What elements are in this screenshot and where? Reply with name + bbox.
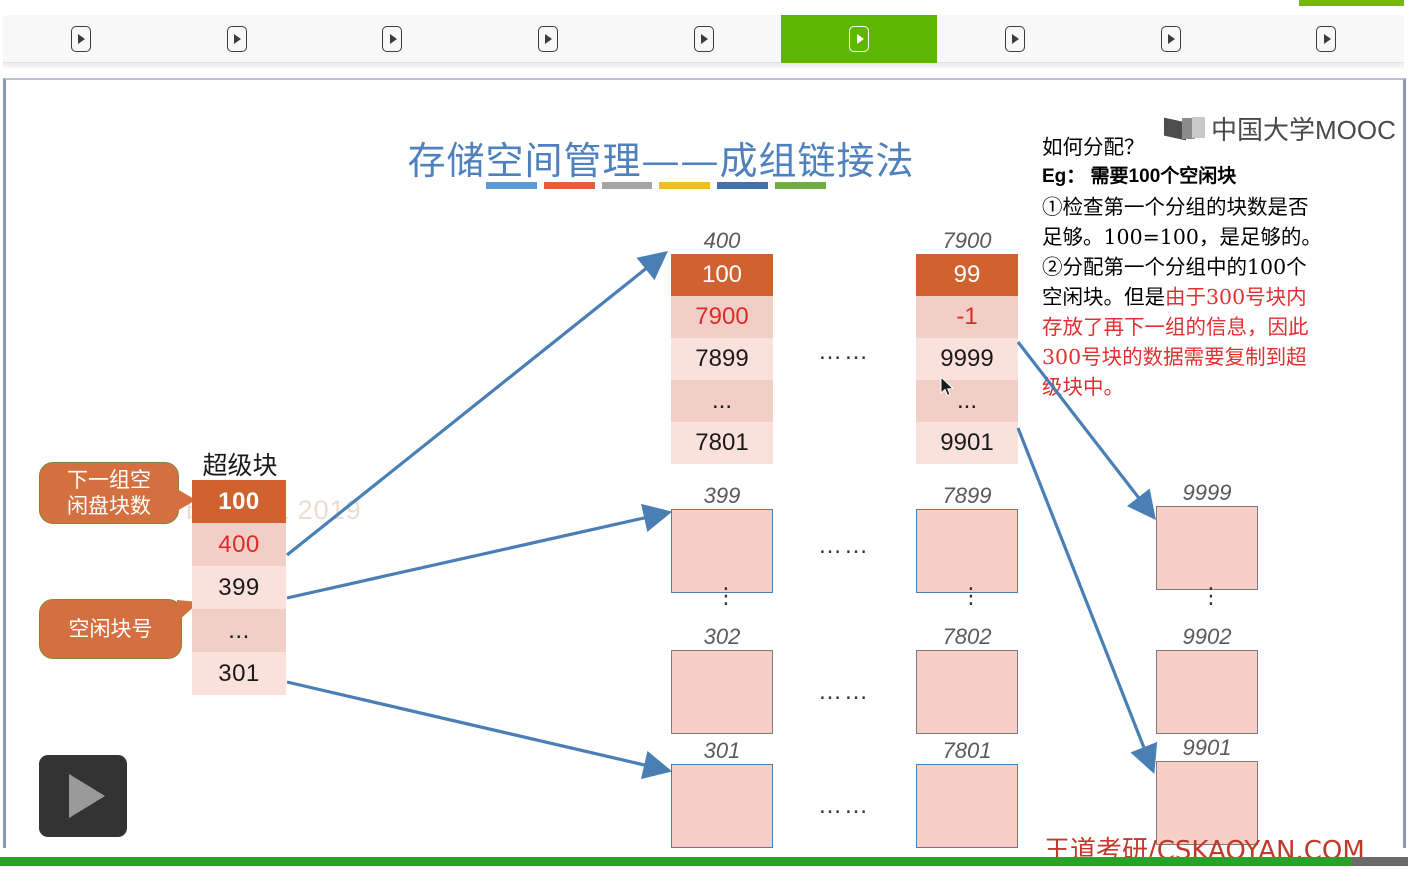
title-bar-5 bbox=[717, 182, 768, 189]
explanation-line-6-plain: 空闲块。但是 bbox=[1042, 285, 1165, 309]
video-play-icon bbox=[382, 26, 402, 52]
arrow-superblock-301-to-group301 bbox=[287, 682, 666, 770]
video-progress-fill bbox=[0, 857, 1352, 866]
video-play-icon bbox=[849, 26, 869, 52]
ellipsis-vertical-col1: ⋮ bbox=[715, 593, 735, 599]
ellipsis-horizontal-row4: …… bbox=[818, 792, 870, 820]
group-caption: 7802 bbox=[916, 624, 1018, 650]
group-caption: 400 bbox=[671, 228, 773, 254]
group-cell-count: 99 bbox=[916, 254, 1018, 296]
superblock-cell-block-301: 301 bbox=[192, 652, 286, 695]
group-caption: 7900 bbox=[916, 228, 1018, 254]
ellipsis-vertical-col3: ⋮ bbox=[1200, 593, 1220, 599]
group-caption: 9901 bbox=[1156, 735, 1258, 761]
superblock-cell-count: 100 bbox=[192, 480, 286, 523]
video-play-icon bbox=[694, 26, 714, 52]
tab-lesson-5[interactable] bbox=[626, 15, 782, 63]
group-block-9999: 9999 bbox=[1156, 480, 1258, 590]
tab-lesson-6-active[interactable] bbox=[781, 15, 937, 63]
play-icon bbox=[69, 774, 105, 818]
title-bar-3 bbox=[602, 182, 653, 189]
page-title: 存储空间管理——成组链接法 bbox=[381, 130, 941, 185]
data-block-box bbox=[671, 764, 773, 848]
video-player-page: 存储空间管理——成组链接法 中国大学MOOC 如何分配？ Eg： 需要100个空… bbox=[0, 0, 1408, 870]
data-block-box bbox=[916, 509, 1018, 593]
arrow-superblock-399-to-group399 bbox=[287, 513, 666, 598]
group-block-7802: 7802 bbox=[916, 624, 1018, 734]
group-cell-next-group: -1 bbox=[916, 296, 1018, 338]
title-underline-bars bbox=[486, 182, 826, 189]
group-cell-count: 100 bbox=[671, 254, 773, 296]
explanation-line-8: 300号块的数据需要复制到超 bbox=[1042, 342, 1408, 372]
video-play-icon bbox=[227, 26, 247, 52]
tab-lesson-7[interactable] bbox=[937, 15, 1093, 63]
arrow-superblock-400-to-group400 bbox=[287, 255, 663, 555]
callout-free-block-no-label: 空闲块号 bbox=[69, 616, 153, 642]
explanation-line-3: ①检查第一个分组的块数是否 bbox=[1042, 192, 1408, 222]
tab-bar-shadow bbox=[3, 63, 1404, 68]
superblock-cell-block-399: 399 bbox=[192, 566, 286, 609]
explanation-line-4: 足够。100=100，是足够的。 bbox=[1042, 222, 1408, 252]
group-block-7899: 7899 bbox=[916, 483, 1018, 593]
video-play-icon bbox=[1316, 26, 1336, 52]
group-cell-7899: 7899 bbox=[671, 338, 773, 380]
group-block-400: 400 100 7900 7899 ... 7801 bbox=[671, 228, 773, 464]
video-play-icon bbox=[1161, 26, 1181, 52]
title-bar-4 bbox=[659, 182, 710, 189]
tab-lesson-1[interactable] bbox=[3, 15, 159, 63]
superblock-label: 超级块 bbox=[192, 446, 288, 482]
superblock-cell-next-group: 400 bbox=[192, 523, 286, 566]
group-block-302: 302 bbox=[671, 624, 773, 734]
group-cell-9999: 9999 bbox=[916, 338, 1018, 380]
group-block-301: 301 bbox=[671, 738, 773, 848]
explanation-line-5: ②分配第一个分组中的100个 bbox=[1042, 252, 1408, 282]
ellipsis-horizontal-row2: …… bbox=[818, 532, 870, 560]
callout-next-group-count-label: 下一组空闲盘块数 bbox=[67, 467, 151, 520]
explanation-line-7: 存放了再下一组的信息，因此 bbox=[1042, 312, 1408, 342]
lesson-tab-bar[interactable] bbox=[3, 15, 1404, 63]
group-cell-next-group: 7900 bbox=[671, 296, 773, 338]
data-block-box bbox=[671, 509, 773, 593]
group-cell-ellipsis: ... bbox=[916, 380, 1018, 422]
explanation-line-2: Eg： 需要100个空闲块 bbox=[1042, 162, 1408, 192]
tab-lesson-8[interactable] bbox=[1093, 15, 1249, 63]
group-block-7801: 7801 bbox=[916, 738, 1018, 848]
group-caption: 9902 bbox=[1156, 624, 1258, 650]
ellipsis-horizontal-row1: …… bbox=[818, 338, 870, 366]
group-block-9902: 9902 bbox=[1156, 624, 1258, 734]
arrow-group7900-9901-to-block9901 bbox=[1018, 428, 1152, 768]
explanation-line-1: 如何分配？ bbox=[1042, 132, 1408, 162]
group-block-399: 399 bbox=[671, 483, 773, 593]
explanation-line-6-red: 由于300号块内 bbox=[1165, 285, 1307, 309]
group-caption: 9999 bbox=[1156, 480, 1258, 506]
data-block-box bbox=[916, 764, 1018, 848]
explanation-line-6: 空闲块。但是由于300号块内 bbox=[1042, 282, 1408, 312]
superblock-cell-ellipsis: ... bbox=[192, 609, 286, 652]
tab-lesson-9[interactable] bbox=[1248, 15, 1404, 63]
data-block-box bbox=[916, 650, 1018, 734]
top-green-indicator bbox=[1299, 0, 1404, 6]
callout-free-block-no: 空闲块号 bbox=[39, 599, 182, 659]
group-block-7900: 7900 99 -1 9999 ... 9901 bbox=[916, 228, 1018, 464]
group-caption: 302 bbox=[671, 624, 773, 650]
explanation-line-9: 级块中。 bbox=[1042, 372, 1408, 402]
tab-lesson-3[interactable] bbox=[314, 15, 470, 63]
group-caption: 399 bbox=[671, 483, 773, 509]
group-block-9901: 9901 bbox=[1156, 735, 1258, 845]
slide-canvas: 存储空间管理——成组链接法 中国大学MOOC 如何分配？ Eg： 需要100个空… bbox=[3, 78, 1406, 848]
group-caption: 301 bbox=[671, 738, 773, 764]
ellipsis-horizontal-row3: …… bbox=[818, 678, 870, 706]
superblock-table: 100 400 399 ... 301 bbox=[192, 480, 286, 695]
title-bar-1 bbox=[486, 182, 537, 189]
group-caption: 7801 bbox=[916, 738, 1018, 764]
data-block-box bbox=[1156, 506, 1258, 590]
explanation-text: 如何分配？ Eg： 需要100个空闲块 ①检查第一个分组的块数是否 足够。100… bbox=[1042, 132, 1408, 402]
data-block-box bbox=[671, 650, 773, 734]
group-cell-7801: 7801 bbox=[671, 422, 773, 464]
group-cell-9901: 9901 bbox=[916, 422, 1018, 464]
title-bar-2 bbox=[544, 182, 595, 189]
callout-next-group-count: 下一组空闲盘块数 bbox=[39, 462, 179, 524]
tab-lesson-4[interactable] bbox=[470, 15, 626, 63]
video-play-icon bbox=[538, 26, 558, 52]
mouse-cursor bbox=[940, 376, 956, 398]
data-block-box bbox=[1156, 650, 1258, 734]
tab-lesson-2[interactable] bbox=[159, 15, 315, 63]
video-progress-bar[interactable] bbox=[0, 857, 1408, 866]
title-bar-6 bbox=[775, 182, 826, 189]
video-play-icon bbox=[71, 26, 91, 52]
group-cell-ellipsis: ... bbox=[671, 380, 773, 422]
group-caption: 7899 bbox=[916, 483, 1018, 509]
ellipsis-vertical-col2: ⋮ bbox=[960, 593, 980, 599]
video-play-icon bbox=[1005, 26, 1025, 52]
play-button-overlay[interactable] bbox=[39, 755, 127, 837]
